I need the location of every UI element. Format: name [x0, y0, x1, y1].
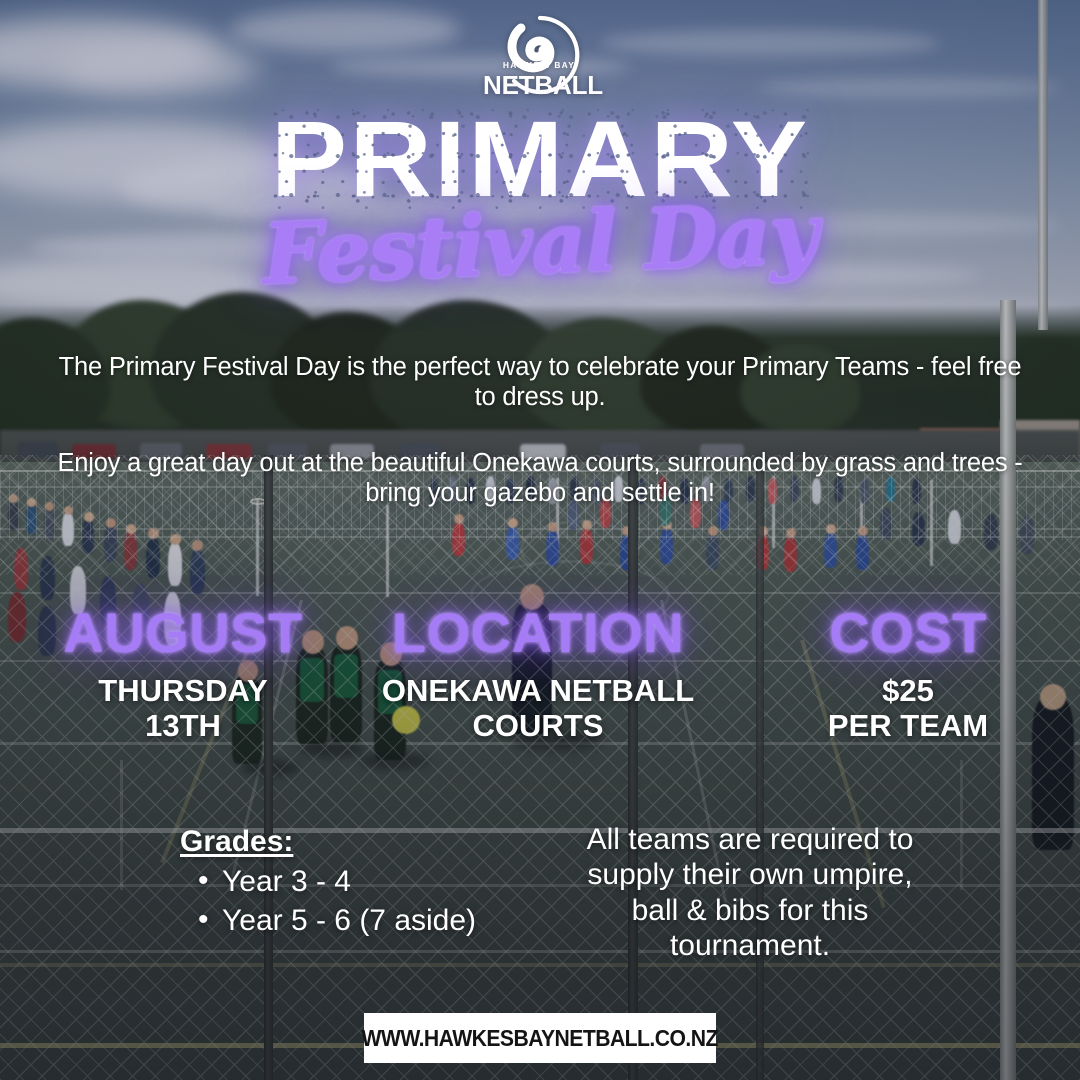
column-body-location: ONEKAWA NETBALL COURTS [358, 675, 718, 741]
grades-heading: Grades: [180, 822, 476, 862]
grades-list: Year 3 - 4 Year 5 - 6 (7 aside) [180, 862, 476, 941]
grades-block: Grades: Year 3 - 4 Year 5 - 6 (7 aside) [180, 822, 476, 941]
column-heading-august: AUGUST [8, 605, 358, 661]
logo-wordmark: NETBALL [483, 70, 603, 100]
grades-list-item: Year 3 - 4 [222, 862, 476, 902]
website-url[interactable]: WWW.HAWKESBAYNETBALL.CO.NZ [362, 1025, 718, 1052]
cost-unit: PER TEAM [748, 710, 1068, 741]
cost-amount: $25 [748, 675, 1068, 706]
requirements-note: All teams are required to supply their o… [570, 822, 930, 964]
primary-festival-day-poster: HAWKE'S BAY NETBALL PRIMARY Festival Day… [0, 0, 1080, 1080]
website-banner[interactable]: WWW.HAWKESBAYNETBALL.CO.NZ [364, 1013, 716, 1063]
column-heading-cost: COST [748, 605, 1068, 661]
grades-list-item: Year 5 - 6 (7 aside) [222, 901, 476, 941]
column-body-date: THURSDAY 13TH [8, 675, 358, 741]
venue-line-1: ONEKAWA NETBALL [358, 675, 718, 706]
date-day: THURSDAY [8, 675, 358, 706]
info-column-cost: COST $25 PER TEAM [748, 605, 1068, 741]
poster-content: HAWKE'S BAY NETBALL PRIMARY Festival Day… [0, 0, 1080, 1080]
hawkes-bay-netball-logo: HAWKE'S BAY NETBALL [465, 12, 615, 104]
intro-copy: The Primary Festival Day is the perfect … [50, 352, 1030, 508]
logo-tagline: HAWKE'S BAY [503, 60, 575, 70]
column-body-cost: $25 PER TEAM [748, 675, 1068, 741]
info-column-date: AUGUST THURSDAY 13TH [8, 605, 358, 741]
date-number: 13TH [8, 710, 358, 741]
info-columns: AUGUST THURSDAY 13TH LOCATION ONEKAWA NE… [0, 605, 1080, 741]
info-column-location: LOCATION ONEKAWA NETBALL COURTS [358, 605, 718, 741]
column-heading-location: LOCATION [358, 605, 718, 661]
intro-paragraph-2: Enjoy a great day out at the beautiful O… [50, 448, 1030, 508]
venue-line-2: COURTS [358, 710, 718, 741]
intro-paragraph-1: The Primary Festival Day is the perfect … [50, 352, 1030, 412]
